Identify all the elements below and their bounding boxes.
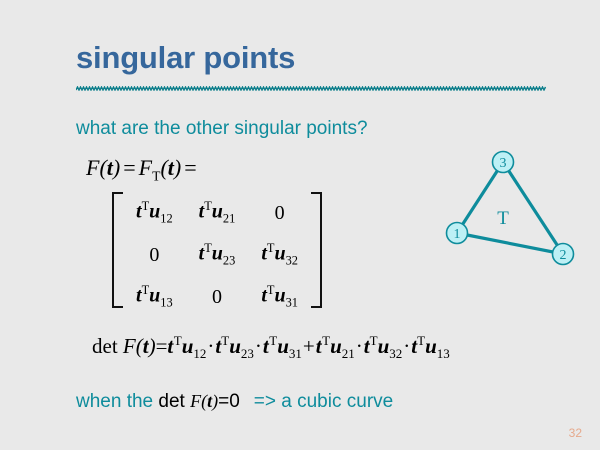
node-2-label: 2 bbox=[560, 248, 567, 263]
matrix-cell-r2c1: 0 bbox=[123, 234, 186, 276]
det-dot4: · bbox=[402, 334, 411, 358]
det-equals: = bbox=[156, 334, 168, 358]
conclusion-result: => a cubic curve bbox=[254, 391, 393, 412]
feq-open-paren: ( bbox=[99, 155, 106, 180]
node-1-label: 1 bbox=[454, 227, 461, 242]
det-sup1: T bbox=[174, 333, 182, 348]
edge-3-2 bbox=[503, 162, 563, 254]
matrix-cell-r1c3: 0 bbox=[248, 192, 311, 234]
matrix-row: 0 tTu23 tTu32 bbox=[123, 234, 311, 276]
det-sub2: 23 bbox=[241, 346, 254, 361]
matrix-block: tTu12 tTu21 0 0 tTu23 tTu32 tTu13 bbox=[112, 192, 322, 308]
conclusion-equals-zero: =0 bbox=[218, 391, 240, 412]
matrix-cell-r3c2: 0 bbox=[186, 276, 249, 318]
matrix-row: tTu13 0 tTu31 bbox=[123, 276, 311, 318]
det-sup5: T bbox=[370, 333, 378, 348]
term-superscript: T bbox=[142, 199, 150, 213]
feq-equals-1: = bbox=[120, 155, 138, 180]
determinant-equation: det F(t)=tTu12·tTu23·tTu31+tTu21·tTu32·t… bbox=[92, 333, 450, 362]
conclusion-det-label: det bbox=[158, 391, 184, 412]
det-sub3: 31 bbox=[289, 346, 302, 361]
edge-1-3 bbox=[457, 162, 503, 233]
matrix-cell-r1c1: tTu12 bbox=[123, 192, 186, 234]
det-dot2: · bbox=[254, 334, 263, 358]
slide-root: singular points what are the other singu… bbox=[0, 0, 600, 450]
term-superscript: T bbox=[142, 283, 150, 297]
matrix-row: tTu12 tTu21 0 bbox=[123, 192, 311, 234]
conclusion-lead: when the bbox=[76, 391, 158, 412]
term-subscript: 31 bbox=[286, 296, 298, 310]
det-u3: u bbox=[277, 334, 289, 358]
det-close-paren: ) bbox=[149, 334, 156, 358]
term-subscript: 23 bbox=[223, 254, 235, 268]
triangle-diagram: T 1 2 3 bbox=[430, 140, 595, 280]
term-subscript: 32 bbox=[286, 254, 298, 268]
det-sub6: 13 bbox=[437, 346, 450, 361]
det-u1: u bbox=[182, 334, 194, 358]
node-3-label: 3 bbox=[500, 156, 507, 171]
subtitle-question: what are the other singular points? bbox=[76, 118, 368, 140]
triangle-diagram-svg: T 1 2 3 bbox=[430, 140, 595, 280]
det-plus: + bbox=[302, 334, 316, 358]
det-sup4: T bbox=[322, 333, 330, 348]
det-dot3: · bbox=[355, 334, 364, 358]
matrix-right-bracket bbox=[311, 192, 322, 308]
page-number: 32 bbox=[569, 426, 582, 440]
feq-equals-2: = bbox=[181, 155, 199, 180]
det-u5: u bbox=[378, 334, 390, 358]
det-u6: u bbox=[425, 334, 437, 358]
matrix-cell-r2c2: tTu23 bbox=[186, 234, 249, 276]
term-superscript: T bbox=[204, 199, 212, 213]
term-superscript: T bbox=[204, 241, 212, 255]
matrix-left-bracket bbox=[112, 192, 123, 308]
det-sub5: 32 bbox=[389, 346, 402, 361]
term-subscript: 13 bbox=[160, 296, 172, 310]
term-vector: u bbox=[274, 285, 285, 307]
term-vector: u bbox=[149, 285, 160, 307]
edge-1-2 bbox=[457, 233, 563, 254]
matrix-cell-r1c2: tTu21 bbox=[186, 192, 249, 234]
conclusion-line: when the det F(t)=0=> a cubic curve bbox=[76, 391, 393, 413]
det-open-paren: ( bbox=[136, 334, 143, 358]
feq-open-paren-2: ( bbox=[160, 155, 167, 180]
term-vector: u bbox=[212, 201, 223, 223]
matrix-cell-r2c3: tTu32 bbox=[248, 234, 311, 276]
det-F: F bbox=[123, 334, 136, 358]
page-title: singular points bbox=[76, 40, 295, 76]
term-subscript: 12 bbox=[160, 212, 172, 226]
det-sub4: 21 bbox=[342, 346, 355, 361]
term-vector: u bbox=[274, 243, 285, 265]
matrix-cell-r3c1: tTu13 bbox=[123, 276, 186, 318]
term-vector: u bbox=[212, 243, 223, 265]
term-subscript: 21 bbox=[223, 212, 235, 226]
diagram-center-label: T bbox=[497, 208, 509, 229]
conclusion-F: F bbox=[190, 391, 201, 411]
det-sub1: 12 bbox=[193, 346, 206, 361]
term-vector: u bbox=[149, 201, 160, 223]
feq-F: F bbox=[86, 155, 99, 180]
matrix-grid: tTu12 tTu21 0 0 tTu23 tTu32 tTu13 bbox=[123, 192, 311, 318]
feq-F-sub: F bbox=[139, 155, 152, 180]
det-sup6: T bbox=[417, 333, 425, 348]
det-u4: u bbox=[330, 334, 342, 358]
function-equation: F(t)=FT(t)= bbox=[86, 155, 200, 184]
matrix-cell-r3c3: tTu31 bbox=[248, 276, 311, 318]
det-u2: u bbox=[229, 334, 241, 358]
det-label: det bbox=[92, 334, 118, 358]
title-underline-decoration bbox=[76, 86, 546, 91]
